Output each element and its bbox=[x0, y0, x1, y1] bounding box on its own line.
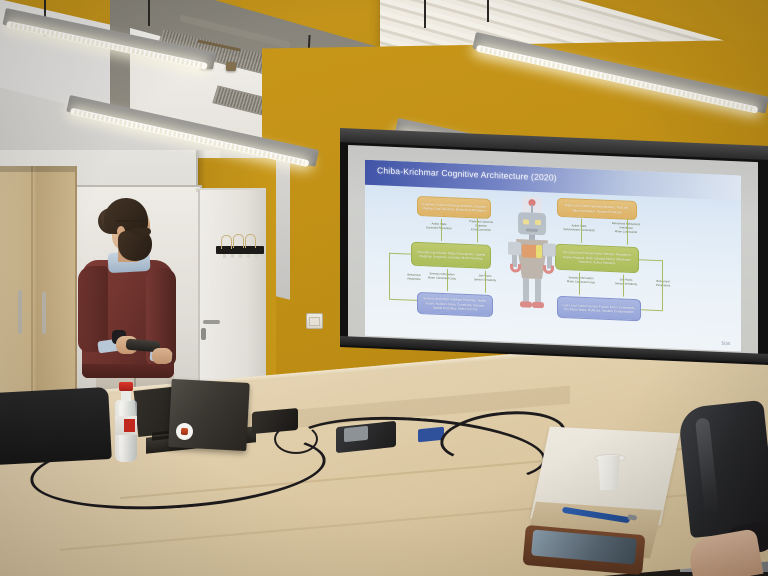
sweater-hem bbox=[82, 364, 174, 378]
door-handle[interactable] bbox=[203, 320, 220, 324]
diagram-box-motor-sensory-left: Sensory and Motor Interface Proximity, T… bbox=[417, 292, 493, 317]
diagram-arrow bbox=[447, 269, 448, 291]
light-switch-rocker[interactable] bbox=[309, 317, 320, 326]
presenter-hand bbox=[152, 348, 172, 364]
diagram-arrow bbox=[389, 253, 411, 255]
presenter-shoulder bbox=[78, 266, 108, 352]
coat-hook bbox=[239, 254, 242, 258]
bottle-label-accent bbox=[124, 419, 135, 432]
paper-cup[interactable] bbox=[596, 456, 622, 490]
cabinet-handle[interactable] bbox=[42, 292, 46, 334]
coat-hook bbox=[255, 254, 258, 258]
presentation-slide[interactable]: Chiba-Krichmar Cognitive Architecture (2… bbox=[365, 160, 741, 352]
diagram-arrow-label: Set Points Sensor Sensitivity bbox=[609, 278, 643, 287]
cabinet-top-shadow bbox=[0, 166, 75, 172]
slide-page-number: 5/34 bbox=[721, 341, 730, 346]
diagram-box-perception-action-right: Perception and Sensorimotor Sensory Inte… bbox=[555, 244, 639, 274]
presenter-beard bbox=[118, 231, 152, 261]
diagram-box-cognitive-control-left: Cognitive Control Planning, Attention, D… bbox=[417, 196, 491, 219]
suspension-wire bbox=[487, 0, 489, 22]
diagram-arrow bbox=[641, 309, 663, 311]
diagram-box-perception-action-left: Perception and Action Object Recognition… bbox=[411, 242, 491, 269]
diagram-arrow bbox=[389, 299, 417, 301]
projection-screen[interactable]: Chiba-Krichmar Cognitive Architecture (2… bbox=[348, 145, 758, 354]
conference-room-scene: Chiba-Krichmar Cognitive Architecture (2… bbox=[0, 0, 768, 576]
coat-hanger-icon bbox=[233, 234, 244, 248]
diagram-box-cognitive-control-right: High-Level Control Working Memory, Task … bbox=[557, 198, 637, 220]
suspension-wire bbox=[424, 0, 426, 28]
diagram-arrow-label: Behavioral Refinement Intentional Motor … bbox=[605, 222, 647, 235]
bottle-cap[interactable] bbox=[119, 382, 133, 391]
diagram-arrow bbox=[477, 218, 478, 242]
sprinkler-head-icon bbox=[226, 62, 236, 71]
coat-hanger-icon bbox=[221, 235, 232, 249]
diagram-arrow bbox=[623, 275, 624, 297]
door-lock-icon[interactable] bbox=[201, 328, 206, 340]
diagram-arrow bbox=[627, 219, 628, 245]
presenter-mustache bbox=[131, 228, 151, 235]
diagram-arrow bbox=[441, 219, 442, 241]
coat-hook bbox=[223, 254, 226, 258]
robot-icon bbox=[506, 196, 558, 318]
diagram-arrow bbox=[389, 253, 390, 299]
coat-hook bbox=[247, 254, 250, 258]
diagram-arrow bbox=[581, 219, 582, 243]
coat-hanger-icon bbox=[245, 234, 256, 248]
diagram-arrow-label: Sensory Information Motor Command Copy bbox=[423, 272, 461, 281]
diagram-arrow bbox=[485, 271, 486, 293]
suspension-wire bbox=[148, 0, 150, 26]
diagram-arrow-label: Sensory Information Motor Command Copy bbox=[561, 276, 601, 285]
cabinet-handle[interactable] bbox=[18, 290, 22, 334]
diagram-arrow-label: Action State Expected Reposition bbox=[421, 222, 457, 231]
diagram-box-motor-sensory-right: Low-Level Control Sensor Fusion, Motor C… bbox=[557, 296, 641, 322]
diagram-arrow bbox=[662, 260, 663, 310]
diagram-arrow bbox=[579, 273, 580, 295]
diagram-arrow-label: Action State Sensorimotor Constraints bbox=[559, 224, 599, 233]
diagram-arrow-label: Predicted Outcome Objective Error Correc… bbox=[461, 220, 501, 233]
chair-right[interactable] bbox=[677, 400, 768, 538]
coat-hook bbox=[231, 254, 234, 258]
diagram-arrow bbox=[639, 259, 663, 261]
glasses-temple bbox=[116, 220, 142, 222]
